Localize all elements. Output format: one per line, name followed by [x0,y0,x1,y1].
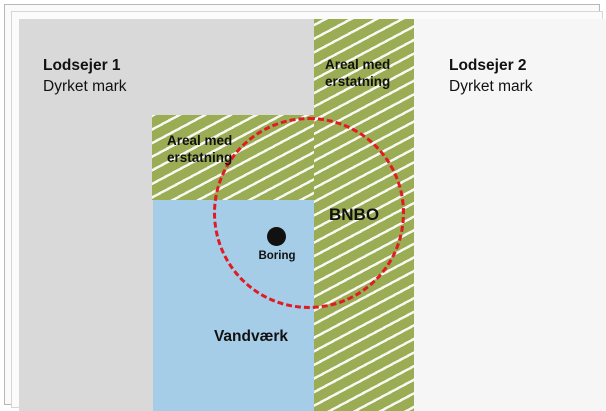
parcel-lodsejer-2-subtitle: Dyrket mark [449,76,606,97]
compensation-area-block-label: Areal med erstatning [167,132,277,166]
borehole-label: Boring [247,250,307,263]
compensation-area-column-label-line2: erstatning [325,73,421,90]
diagram-canvas: Boring Lodsejer 1 Dyrket mark Lodsejer 2… [19,19,606,411]
parcel-lodsejer-1-label: Lodsejer 1 Dyrket mark [43,55,243,97]
bnbo-parcel-diagram: Boring Lodsejer 1 Dyrket mark Lodsejer 2… [0,0,606,411]
diagram-frame: Boring Lodsejer 1 Dyrket mark Lodsejer 2… [4,4,600,405]
compensation-area-block-label-line2: erstatning [167,149,277,166]
diagram-frame-inner: Boring Lodsejer 1 Dyrket mark Lodsejer 2… [11,11,603,408]
compensation-area-column-label: Areal med erstatning [325,56,421,90]
compensation-area-block-label-line1: Areal med [167,132,277,149]
waterworks-label: Vandværk [191,327,311,346]
compensation-area-column-label-line1: Areal med [325,56,421,73]
parcel-lodsejer-1-subtitle: Dyrket mark [43,76,243,97]
bnbo-label: BNBO [329,205,379,225]
parcel-lodsejer-2-label: Lodsejer 2 Dyrket mark [449,55,606,97]
borehole-marker-icon [267,227,286,246]
parcel-lodsejer-2-title: Lodsejer 2 [449,55,606,76]
parcel-lodsejer-1-title: Lodsejer 1 [43,55,243,76]
